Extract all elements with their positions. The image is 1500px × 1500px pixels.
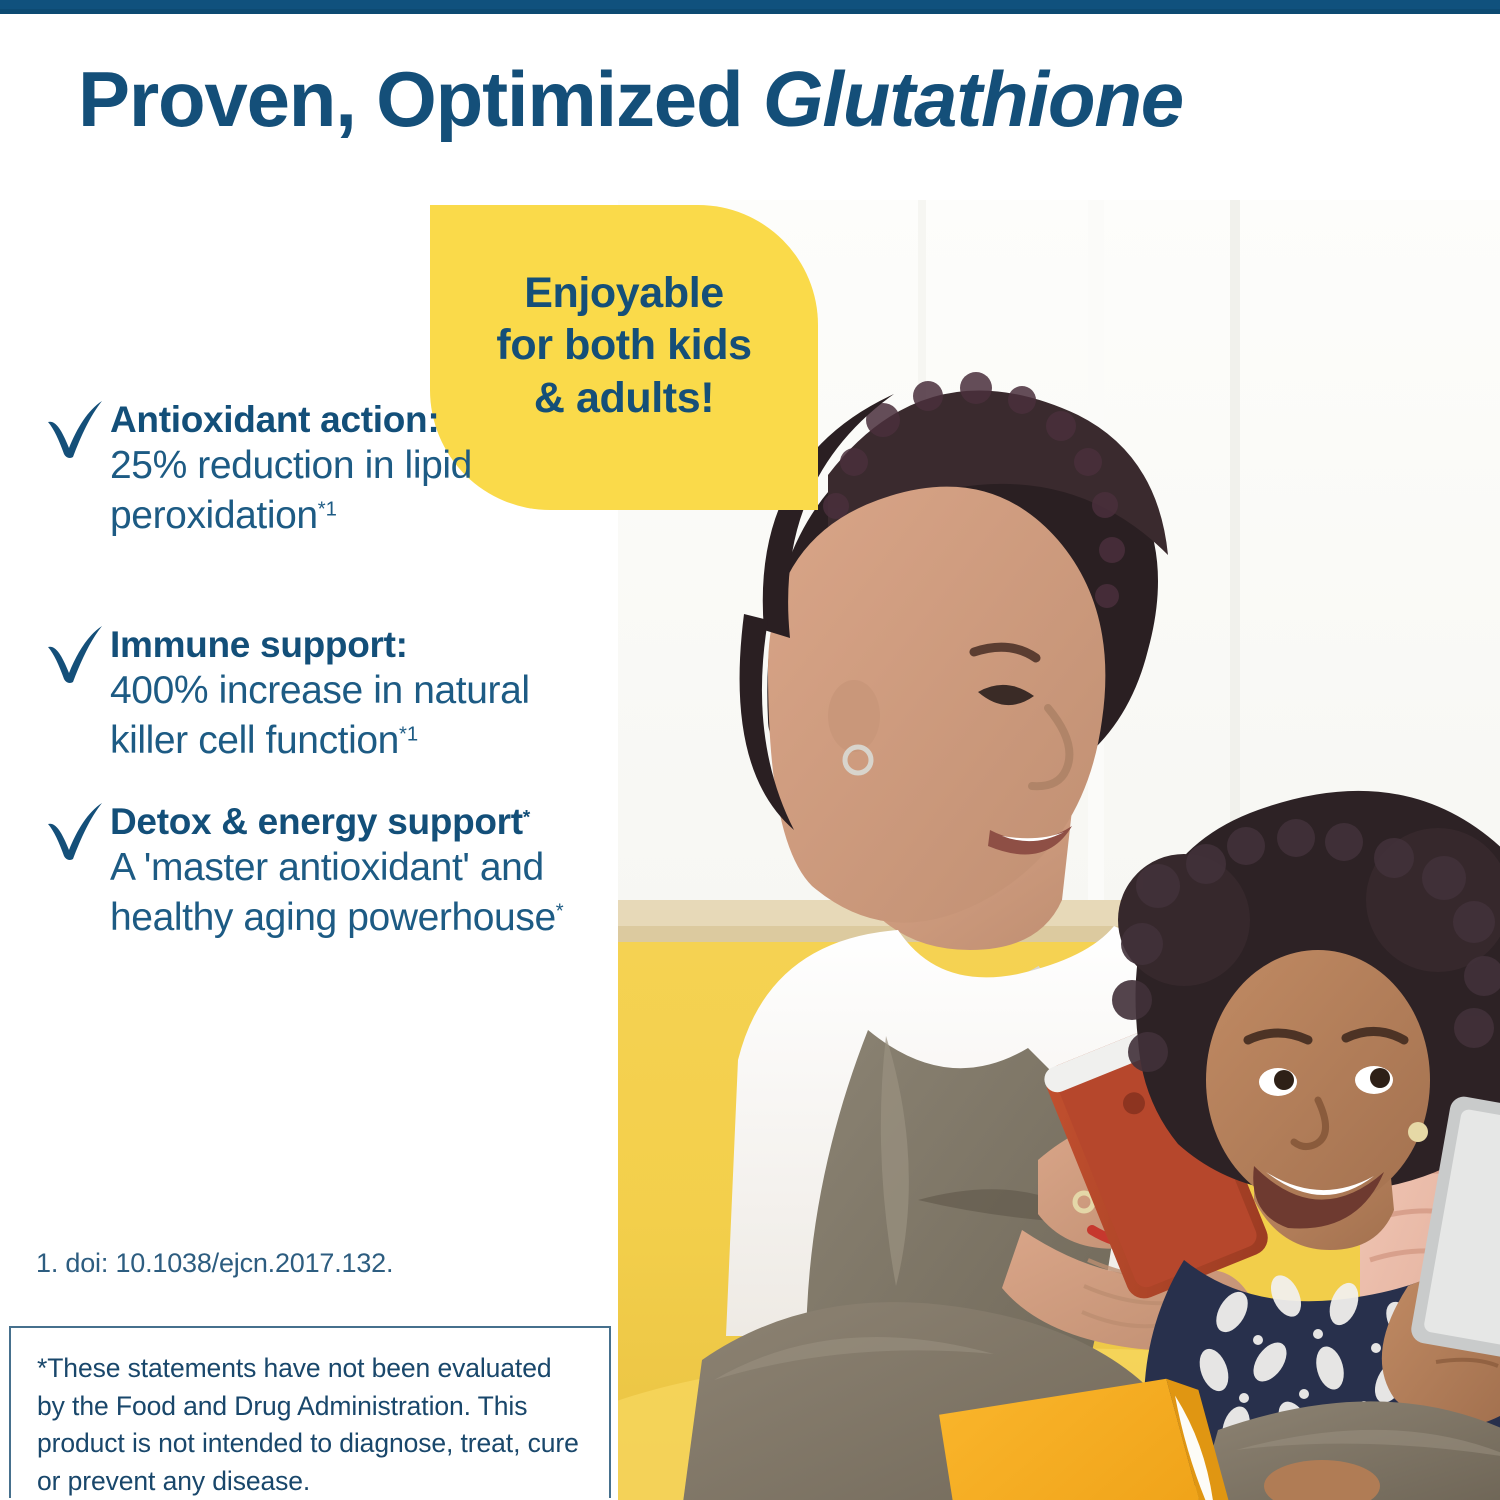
benefit-body-superscript: * bbox=[556, 901, 564, 923]
benefit-body-superscript: *1 bbox=[318, 499, 337, 521]
fda-disclaimer-box: *These statements have not been evaluate… bbox=[9, 1326, 611, 1498]
benefit-item-detox: Detox & energy support* A 'master antiox… bbox=[42, 800, 602, 943]
page-title-plain: Proven, Optimized bbox=[78, 55, 763, 143]
benefit-body: A 'master antioxidant' and healthy aging… bbox=[110, 843, 602, 943]
infographic-page: Proven, Optimized Glutathione bbox=[0, 0, 1500, 1500]
benefit-heading: Immune support: bbox=[110, 623, 602, 666]
benefits-list: Antioxidant action: 25% reduction in lip… bbox=[42, 398, 602, 943]
checkmark-icon bbox=[44, 400, 108, 460]
top-accent-bar bbox=[0, 0, 1500, 14]
top-accent-bar-shade bbox=[0, 9, 1500, 14]
checkmark-icon bbox=[44, 802, 108, 862]
fda-disclaimer-text: *These statements have not been evaluate… bbox=[37, 1350, 583, 1500]
checkmark-icon bbox=[44, 625, 108, 685]
benefit-heading-superscript: * bbox=[523, 808, 531, 829]
benefit-body: 25% reduction in lipid peroxidation*1 bbox=[110, 441, 602, 541]
benefit-heading-text: Detox & energy support bbox=[110, 801, 523, 842]
badge-line-2: for both kids bbox=[430, 319, 818, 371]
citation-reference: 1. doi: 10.1038/ejcn.2017.132. bbox=[36, 1248, 393, 1279]
page-title: Proven, Optimized Glutathione bbox=[78, 60, 1478, 138]
benefit-body-text: 400% increase in natural killer cell fun… bbox=[110, 669, 530, 762]
benefit-heading: Antioxidant action: bbox=[110, 398, 602, 441]
page-title-italic: Glutathione bbox=[763, 55, 1183, 143]
benefit-body-text: A 'master antioxidant' and healthy aging… bbox=[110, 846, 556, 939]
benefit-body: 400% increase in natural killer cell fun… bbox=[110, 666, 602, 766]
benefit-item-antioxidant: Antioxidant action: 25% reduction in lip… bbox=[42, 398, 602, 541]
benefit-body-text: 25% reduction in lipid peroxidation bbox=[110, 444, 472, 537]
benefit-heading: Detox & energy support* bbox=[110, 800, 602, 843]
benefit-item-immune: Immune support: 400% increase in natural… bbox=[42, 623, 602, 766]
benefit-body-superscript: *1 bbox=[399, 724, 418, 746]
badge-line-1: Enjoyable bbox=[430, 267, 818, 319]
